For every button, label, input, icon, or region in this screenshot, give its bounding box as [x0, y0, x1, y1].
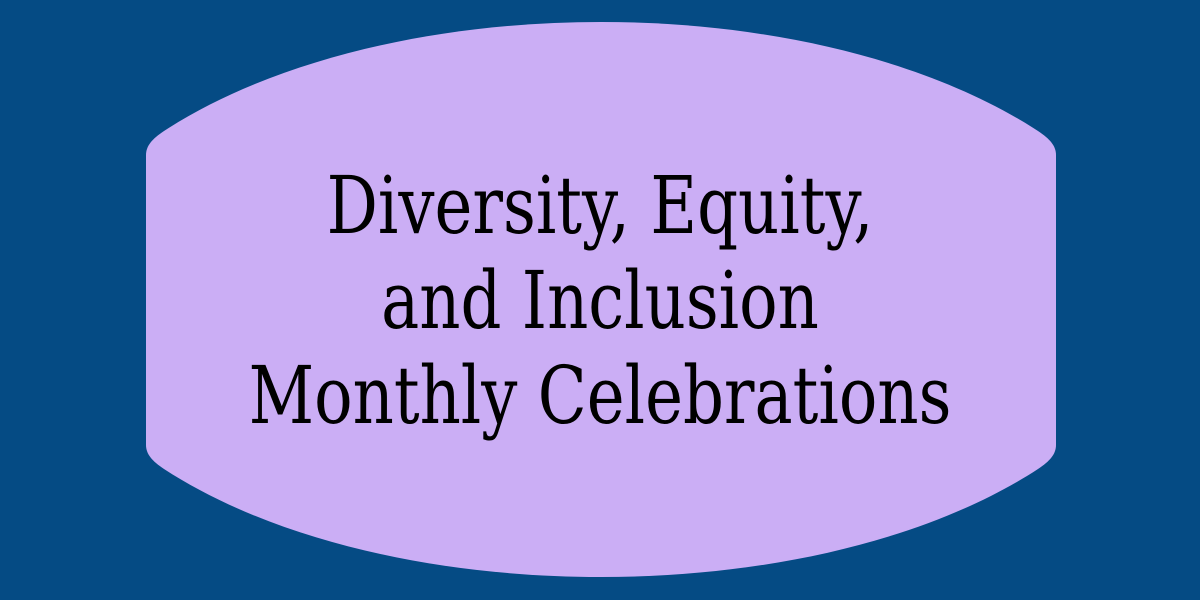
title-card-canvas: Diversity, Equity, and Inclusion Monthly…	[0, 0, 1200, 600]
title-line-3: Monthly Celebrations	[200, 348, 1000, 443]
title-line-2: and Inclusion	[200, 253, 1000, 348]
title-line-1: Diversity, Equity,	[200, 158, 1000, 253]
title-block: Diversity, Equity, and Inclusion Monthly…	[0, 0, 1200, 600]
